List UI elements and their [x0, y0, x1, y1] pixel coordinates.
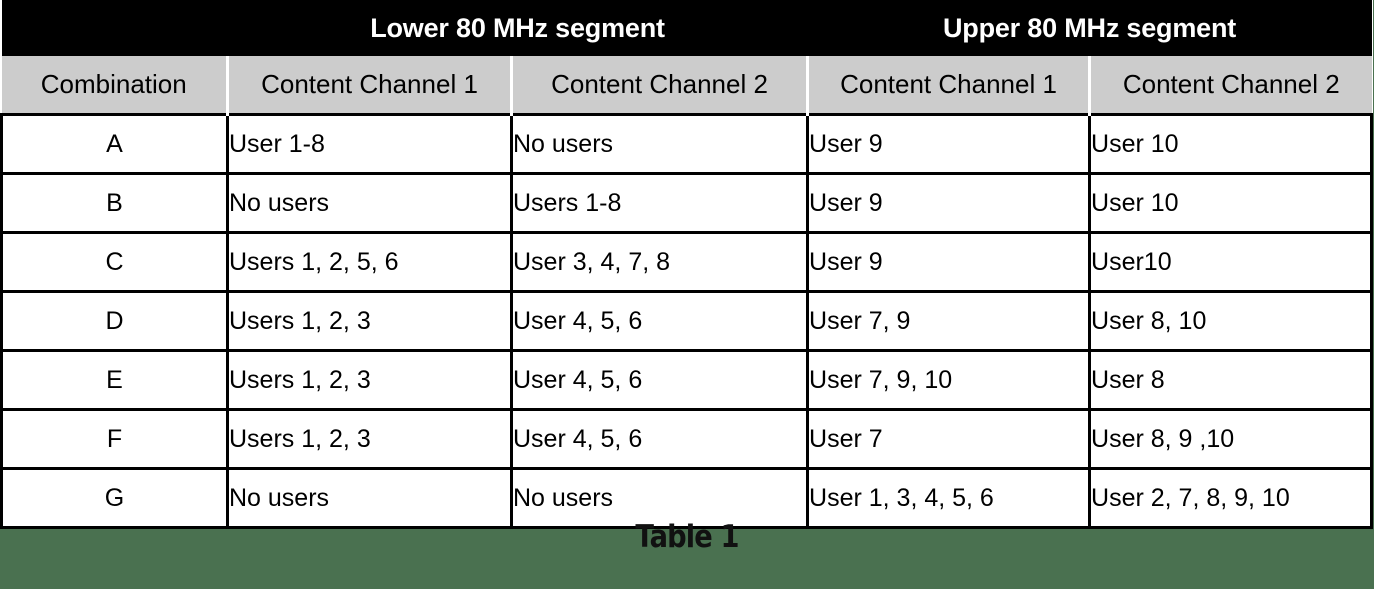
column-header-upper-content-channel-2: Content Channel 2: [1090, 56, 1372, 115]
cell-upper-content-channel-2: User10: [1090, 233, 1372, 292]
column-header-combination: Combination: [2, 56, 228, 115]
cell-upper-content-channel-2: User 8, 10: [1090, 292, 1372, 351]
table-row: FUsers 1, 2, 3User 4, 5, 6User 7User 8, …: [2, 410, 1372, 469]
segment-band-row: Lower 80 MHz segment Upper 80 MHz segmen…: [2, 0, 1372, 56]
cell-lower-content-channel-2: User 4, 5, 6: [512, 410, 808, 469]
table-row: AUser 1-8No usersUser 9User 10: [2, 115, 1372, 174]
table-header: Lower 80 MHz segment Upper 80 MHz segmen…: [2, 0, 1372, 115]
combination-table-container: Lower 80 MHz segment Upper 80 MHz segmen…: [0, 0, 1370, 529]
table-row: BNo usersUsers 1-8User 9User 10: [2, 174, 1372, 233]
cell-upper-content-channel-1: User 7: [808, 410, 1090, 469]
cell-combination: E: [2, 351, 228, 410]
cell-upper-content-channel-2: User 8: [1090, 351, 1372, 410]
cell-lower-content-channel-1: Users 1, 2, 3: [228, 351, 512, 410]
cell-combination: A: [2, 115, 228, 174]
cell-lower-content-channel-1: Users 1, 2, 3: [228, 410, 512, 469]
cell-lower-content-channel-2: User 4, 5, 6: [512, 292, 808, 351]
table-caption: Table 1: [82, 519, 1291, 555]
column-header-lower-content-channel-2: Content Channel 2: [512, 56, 808, 115]
column-header-row: Combination Content Channel 1 Content Ch…: [2, 56, 1372, 115]
table-body: AUser 1-8No usersUser 9User 10BNo usersU…: [2, 115, 1372, 528]
cell-upper-content-channel-2: User 10: [1090, 115, 1372, 174]
cell-combination: C: [2, 233, 228, 292]
cell-upper-content-channel-2: User 8, 9 ,10: [1090, 410, 1372, 469]
column-header-upper-content-channel-1: Content Channel 1: [808, 56, 1090, 115]
cell-lower-content-channel-2: User 4, 5, 6: [512, 351, 808, 410]
cell-combination: D: [2, 292, 228, 351]
segment-band-blank: [2, 0, 228, 56]
cell-lower-content-channel-1: Users 1, 2, 5, 6: [228, 233, 512, 292]
page-root: Lower 80 MHz segment Upper 80 MHz segmen…: [0, 0, 1374, 589]
cell-lower-content-channel-2: Users 1-8: [512, 174, 808, 233]
segment-band-upper-80-mhz: Upper 80 MHz segment: [808, 0, 1372, 56]
cell-lower-content-channel-1: No users: [228, 174, 512, 233]
cell-upper-content-channel-1: User 7, 9: [808, 292, 1090, 351]
cell-combination: B: [2, 174, 228, 233]
combination-table: Lower 80 MHz segment Upper 80 MHz segmen…: [0, 0, 1373, 529]
cell-combination: F: [2, 410, 228, 469]
table-row: EUsers 1, 2, 3User 4, 5, 6User 7, 9, 10U…: [2, 351, 1372, 410]
cell-lower-content-channel-1: Users 1, 2, 3: [228, 292, 512, 351]
cell-upper-content-channel-1: User 7, 9, 10: [808, 351, 1090, 410]
cell-lower-content-channel-2: User 3, 4, 7, 8: [512, 233, 808, 292]
cell-upper-content-channel-2: User 10: [1090, 174, 1372, 233]
table-row: CUsers 1, 2, 5, 6User 3, 4, 7, 8User 9Us…: [2, 233, 1372, 292]
cell-upper-content-channel-1: User 9: [808, 233, 1090, 292]
cell-lower-content-channel-1: User 1-8: [228, 115, 512, 174]
column-header-lower-content-channel-1: Content Channel 1: [228, 56, 512, 115]
table-row: DUsers 1, 2, 3User 4, 5, 6User 7, 9User …: [2, 292, 1372, 351]
segment-band-lower-80-mhz: Lower 80 MHz segment: [228, 0, 808, 56]
cell-upper-content-channel-1: User 9: [808, 115, 1090, 174]
cell-lower-content-channel-2: No users: [512, 115, 808, 174]
cell-upper-content-channel-1: User 9: [808, 174, 1090, 233]
